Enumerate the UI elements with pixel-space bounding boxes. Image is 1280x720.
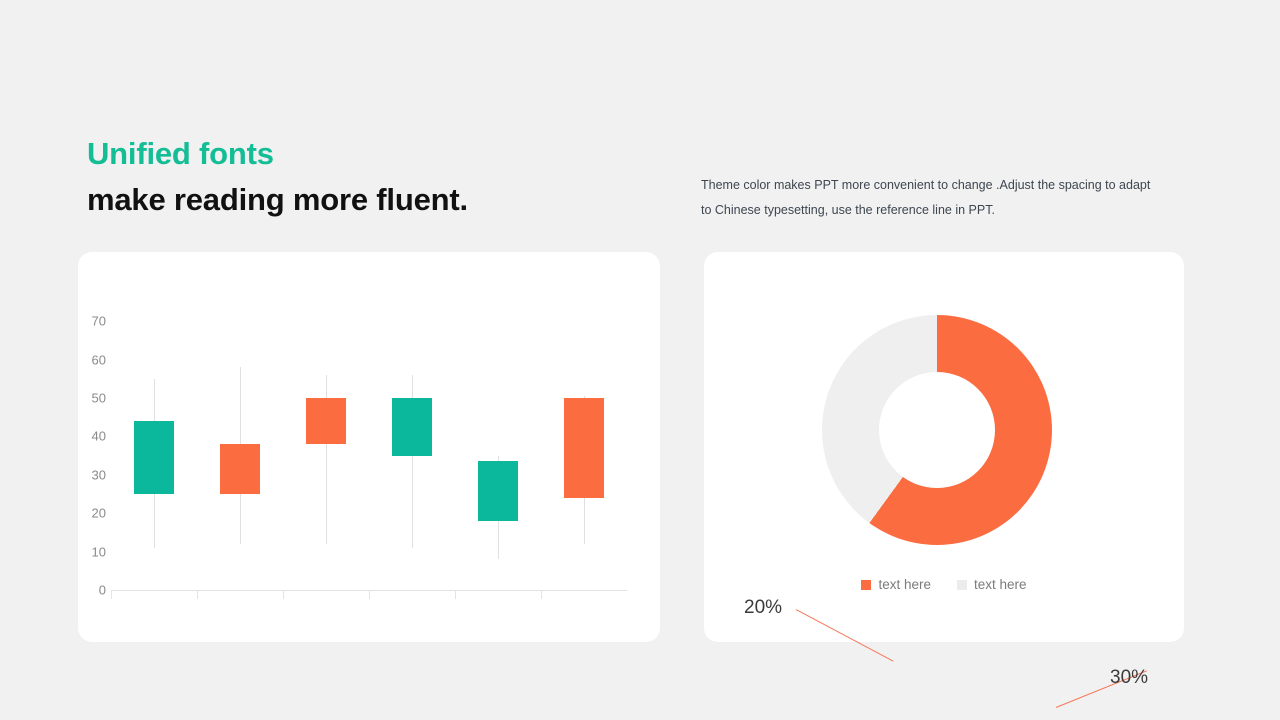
y-axis-tick-label: 20 — [76, 506, 106, 521]
legend-label: text here — [878, 577, 931, 592]
y-axis-tick-label: 70 — [76, 314, 106, 329]
intro-paragraph: Theme color makes PPT more convenient to… — [701, 173, 1159, 223]
candlestick-body — [134, 421, 174, 494]
legend-swatch-icon — [861, 580, 871, 590]
donut-value-label-20: 20% — [744, 597, 782, 619]
x-axis-tick-mark — [111, 590, 112, 599]
y-axis-tick-label: 10 — [76, 544, 106, 559]
legend-item[interactable]: text here — [957, 577, 1027, 592]
y-axis-tick-label: 40 — [76, 429, 106, 444]
page-title: Unified fonts make reading more fluent. — [87, 134, 468, 220]
candlestick-chart: 010203040506070 2021/1/520xx/1/620xx/1/7… — [78, 252, 660, 642]
candlestick-bar — [564, 302, 604, 590]
y-axis-tick-label: 30 — [76, 467, 106, 482]
candlestick-bar — [392, 302, 432, 590]
x-axis-tick-mark — [197, 590, 198, 599]
candlestick-body — [564, 398, 604, 498]
slide: Unified fonts make reading more fluent. … — [0, 0, 1280, 720]
donut-value-label-30: 30% — [1110, 667, 1148, 689]
candlestick-bar — [478, 302, 518, 590]
donut-legend: text heretext here — [704, 577, 1184, 592]
candlestick-body — [478, 461, 518, 521]
y-axis-tick-label: 50 — [76, 391, 106, 406]
legend-label: text here — [974, 577, 1027, 592]
y-axis-tick-label: 60 — [76, 352, 106, 367]
donut-card: 20% 30% text heretext here — [704, 252, 1184, 642]
candlestick-body — [220, 444, 260, 494]
candlestick-bar — [306, 302, 346, 590]
y-axis-tick-label: 0 — [76, 583, 106, 598]
donut-ring — [822, 315, 1052, 545]
x-axis-tick-mark — [283, 590, 284, 599]
candlestick-bar — [134, 302, 174, 590]
candlestick-body — [392, 398, 432, 456]
candlestick-plot-area — [111, 302, 627, 590]
legend-item[interactable]: text here — [861, 577, 931, 592]
x-axis-tick-mark — [455, 590, 456, 599]
headline-accent: Unified fonts — [87, 134, 468, 174]
candlestick-card: 010203040506070 2021/1/520xx/1/620xx/1/7… — [78, 252, 660, 642]
donut-hole — [879, 372, 995, 488]
headline-main: make reading more fluent. — [87, 180, 468, 220]
leader-line-20 — [796, 609, 894, 662]
candlestick-body — [306, 398, 346, 444]
x-axis-tick-mark — [541, 590, 542, 599]
legend-swatch-icon — [957, 580, 967, 590]
candlestick-bar — [220, 302, 260, 590]
x-axis-tick-mark — [369, 590, 370, 599]
